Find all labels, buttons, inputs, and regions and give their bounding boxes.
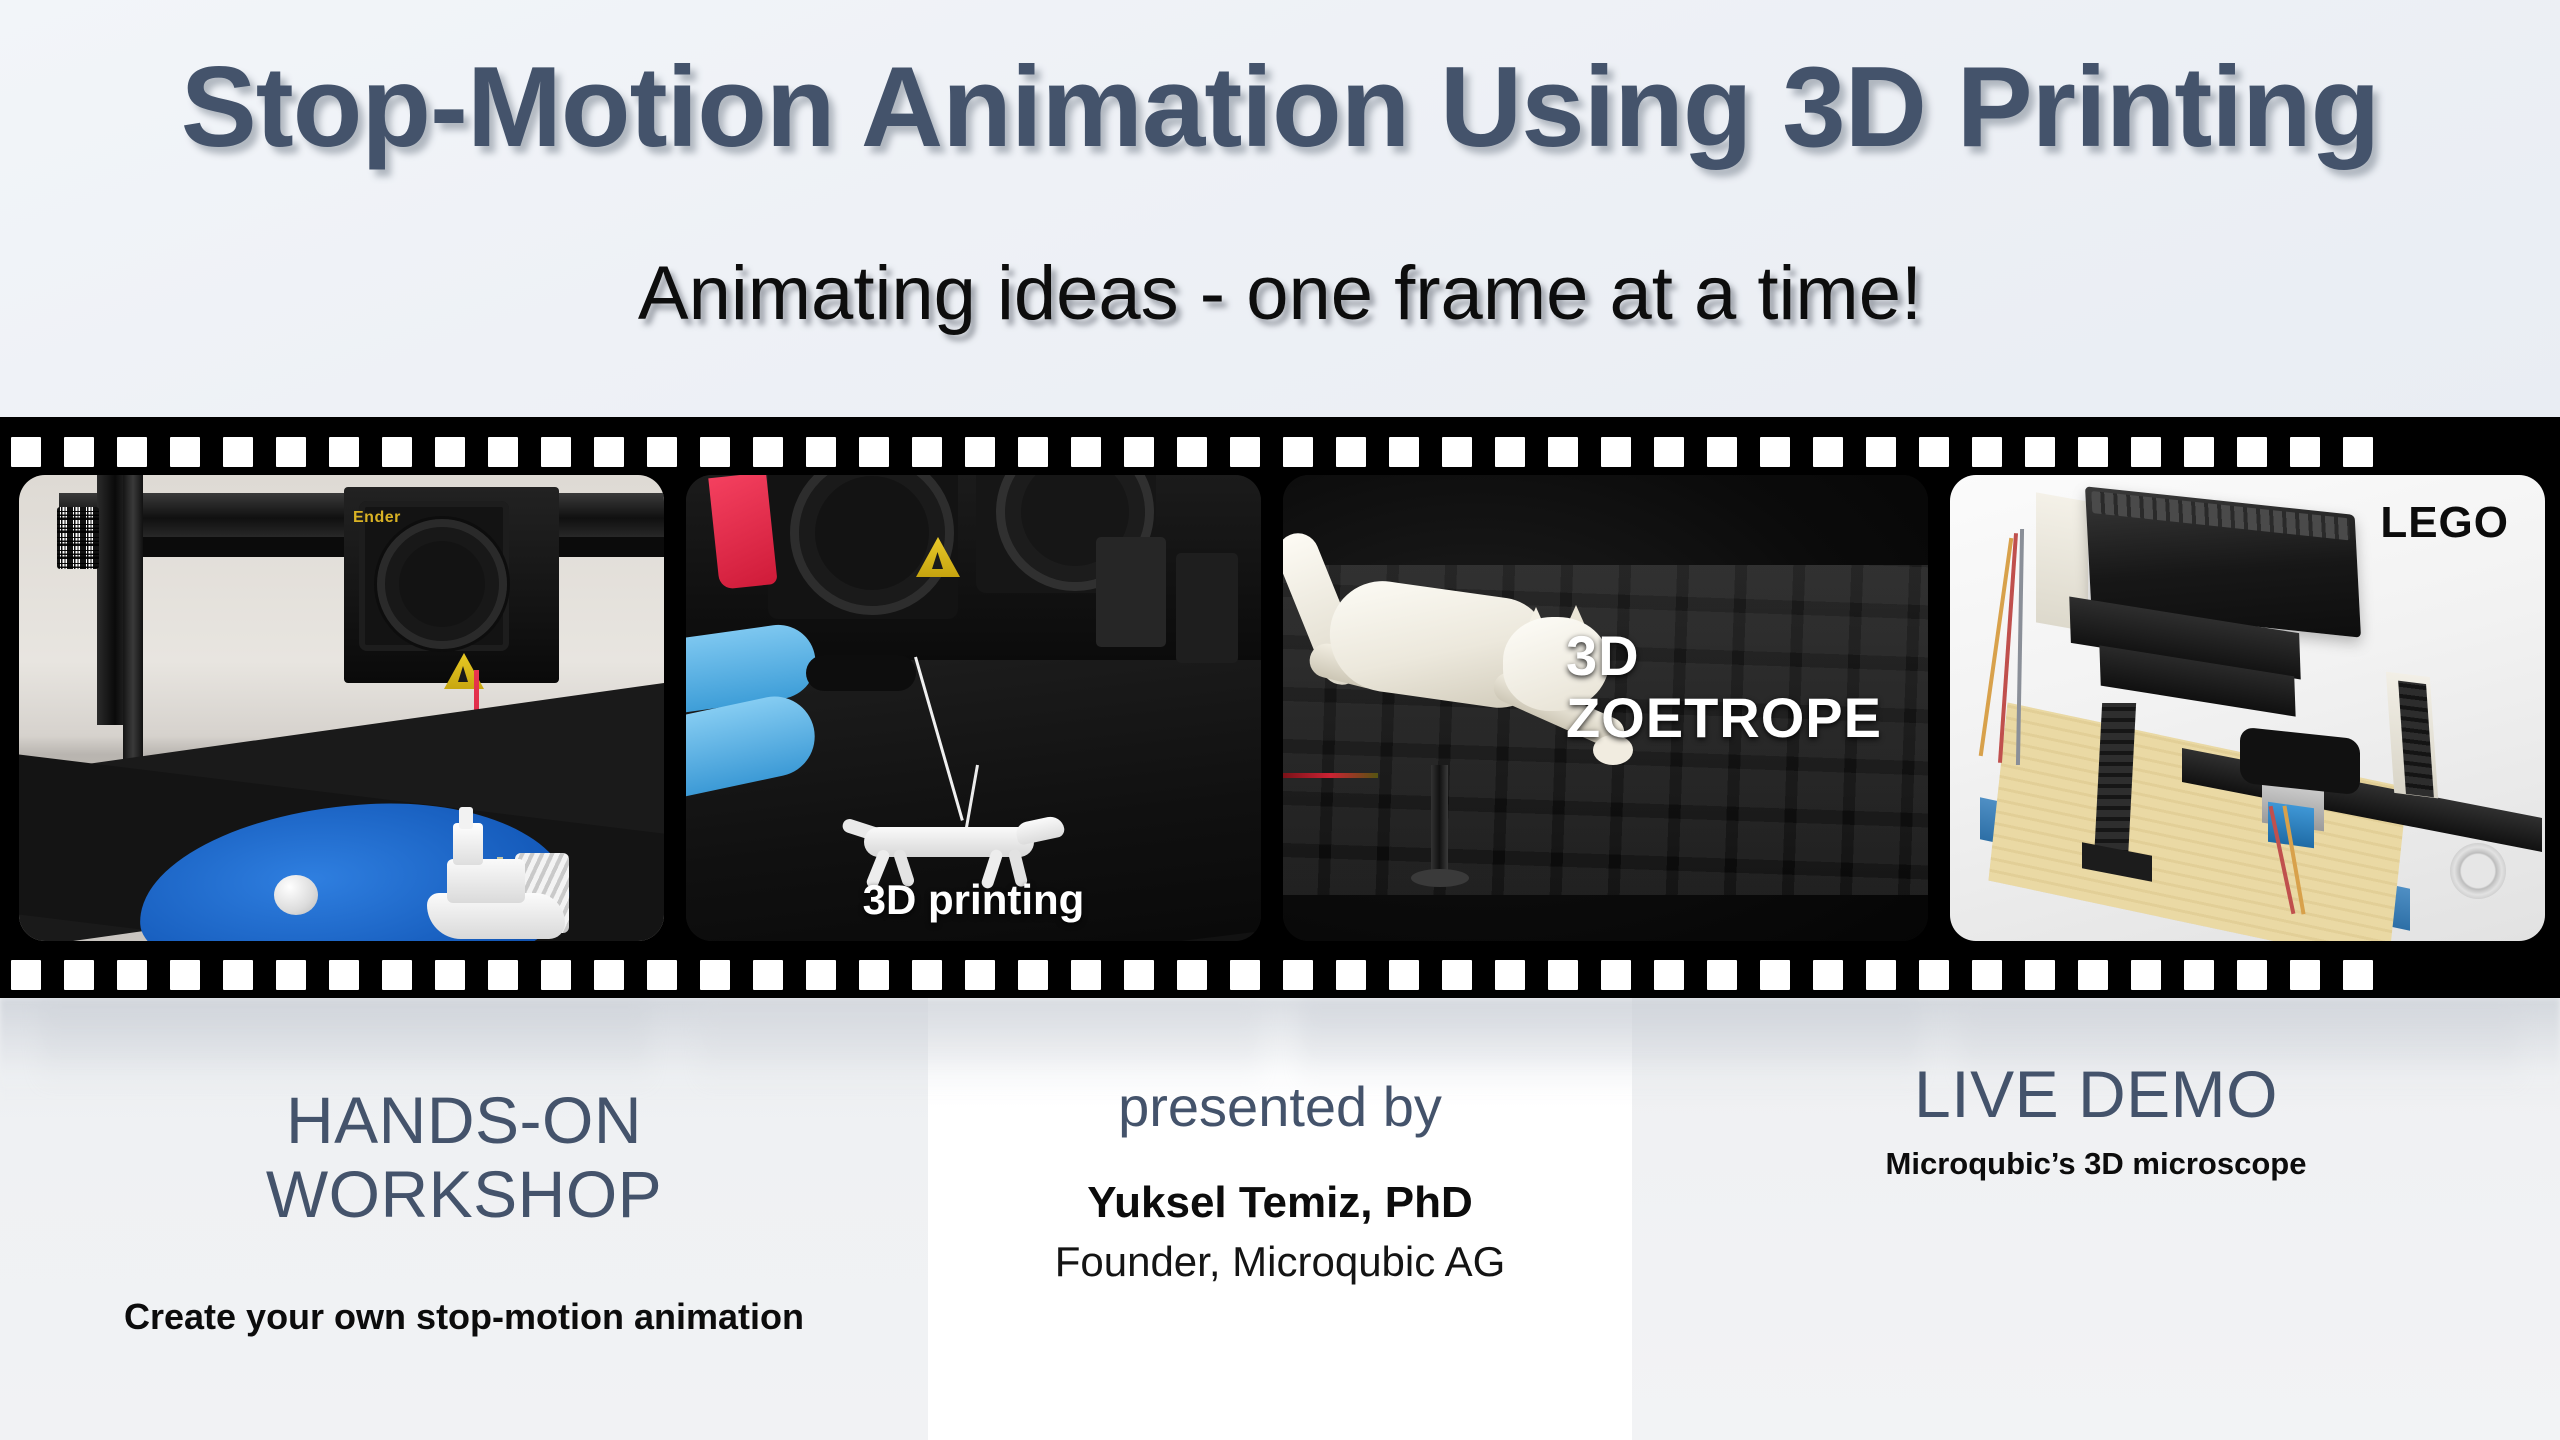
sprocket-hole — [594, 437, 624, 467]
sprocket-hole — [64, 960, 94, 990]
sprocket-hole — [11, 960, 41, 990]
sprocket-hole — [276, 960, 306, 990]
sprocket-hole — [806, 437, 836, 467]
sprocket-hole — [1601, 960, 1631, 990]
sprocket-hole — [2078, 437, 2108, 467]
sprocket-hole — [117, 437, 147, 467]
sprocket-hole — [2131, 437, 2161, 467]
sprocket-hole — [2184, 960, 2214, 990]
sprocket-hole — [1919, 960, 1949, 990]
sprocket-hole — [1813, 437, 1843, 467]
sprocket-hole — [1336, 437, 1366, 467]
sprocket-hole — [276, 437, 306, 467]
sprocket-hole — [435, 960, 465, 990]
sprocket-hole — [1389, 960, 1419, 990]
presenter-role: Founder, Microqubic AG — [928, 1238, 1632, 1286]
film-strip: Ender — [0, 417, 2560, 998]
sprocket-hole — [1071, 437, 1101, 467]
page-subtitle: Animating ideas - one frame at a time! — [0, 250, 2560, 337]
film-reflection-1 — [40, 998, 650, 1090]
film-frame-3[interactable]: 3D ZOETROPE — [1283, 475, 1928, 941]
sprocket-hole — [329, 437, 359, 467]
sprocket-hole — [647, 960, 677, 990]
sprocket-hole — [965, 437, 995, 467]
sprocket-hole — [912, 960, 942, 990]
sprocket-hole — [2078, 960, 2108, 990]
sprocket-hole — [753, 437, 783, 467]
sprocket-hole — [2025, 960, 2055, 990]
presenter-name: Yuksel Temiz, PhD — [928, 1178, 1632, 1228]
film-frame-2[interactable]: 3D printing — [686, 475, 1261, 941]
sprocket-hole — [541, 437, 571, 467]
sprocket-hole — [1972, 437, 2002, 467]
poster-header: Stop-Motion Animation Using 3D Printing … — [0, 0, 2560, 417]
film-frame-1[interactable]: Ender — [19, 475, 664, 941]
printing-photo — [686, 475, 1261, 941]
sprocket-hole — [11, 437, 41, 467]
sprocket-hole — [1336, 960, 1366, 990]
sprocket-hole — [1707, 437, 1737, 467]
sprocket-hole — [382, 960, 412, 990]
presented-by-label: presented by — [928, 1074, 1632, 1139]
sprocket-hole — [382, 437, 412, 467]
sprocket-hole — [329, 960, 359, 990]
live-demo-heading: LIVE DEMO — [1632, 1056, 2560, 1132]
sprocket-hole — [1760, 960, 1790, 990]
sprocket-hole — [1813, 960, 1843, 990]
sprocket-hole — [435, 437, 465, 467]
sprocket-hole — [1283, 437, 1313, 467]
sprocket-hole — [859, 437, 889, 467]
qr-code-sticker — [57, 507, 99, 569]
live-demo-subheading: Microqubic’s 3D microscope — [1632, 1146, 2560, 1182]
sprocket-hole — [753, 960, 783, 990]
sprocket-hole — [647, 437, 677, 467]
sprocket-hole — [223, 960, 253, 990]
sprocket-hole — [2290, 437, 2320, 467]
sprocket-hole — [1230, 960, 1260, 990]
frame-3-caption: 3D ZOETROPE — [1566, 625, 1882, 748]
sprocket-hole — [1760, 437, 1790, 467]
sprocket-hole — [1442, 437, 1472, 467]
sprocket-hole — [806, 960, 836, 990]
sprocket-hole — [1018, 437, 1048, 467]
sprocket-hole — [1283, 960, 1313, 990]
sprocket-hole — [2025, 437, 2055, 467]
sprocket-hole — [2184, 437, 2214, 467]
sprocket-hole — [1548, 437, 1578, 467]
sprocket-row-top — [0, 437, 2560, 467]
sprocket-hole — [859, 960, 889, 990]
sprocket-hole — [1124, 960, 1154, 990]
sprocket-hole — [1389, 437, 1419, 467]
film-frames: Ender — [0, 475, 2560, 941]
sprocket-hole — [700, 960, 730, 990]
sprocket-hole — [1866, 960, 1896, 990]
sprocket-hole — [700, 437, 730, 467]
sprocket-hole — [1230, 437, 1260, 467]
sprocket-hole — [1654, 437, 1684, 467]
sprocket-hole — [2131, 960, 2161, 990]
sprocket-hole — [1442, 960, 1472, 990]
fan-icon — [768, 475, 958, 619]
sprocket-hole — [2290, 960, 2320, 990]
sprocket-hole — [2343, 437, 2373, 467]
sprocket-hole — [541, 960, 571, 990]
sprocket-hole — [1495, 437, 1525, 467]
sprocket-hole — [1071, 960, 1101, 990]
sprocket-hole — [1601, 437, 1631, 467]
sprocket-hole — [1919, 437, 1949, 467]
sprocket-hole — [223, 437, 253, 467]
sprocket-hole — [1177, 960, 1207, 990]
sprocket-hole — [64, 437, 94, 467]
workshop-subheading: Create your own stop-motion animation — [0, 1296, 928, 1338]
workshop-heading: HANDS-ON WORKSHOP — [0, 1084, 928, 1232]
sprocket-hole — [488, 437, 518, 467]
sprocket-hole — [170, 437, 200, 467]
sprocket-hole — [488, 960, 518, 990]
sprocket-hole — [1866, 437, 1896, 467]
sprocket-row-bottom — [0, 960, 2560, 990]
sprocket-hole — [1548, 960, 1578, 990]
sprocket-hole — [1707, 960, 1737, 990]
film-frame-4[interactable]: LEGO — [1950, 475, 2545, 941]
sprocket-hole — [117, 960, 147, 990]
sprocket-hole — [2237, 437, 2267, 467]
sprocket-hole — [170, 960, 200, 990]
sprocket-hole — [1972, 960, 2002, 990]
frame-2-caption: 3D printing — [686, 877, 1261, 923]
sprocket-hole — [1654, 960, 1684, 990]
sprocket-hole — [912, 437, 942, 467]
poster-footer: HANDS-ON WORKSHOP Create your own stop-m… — [0, 998, 2560, 1440]
sprocket-hole — [2237, 960, 2267, 990]
sprocket-hole — [965, 960, 995, 990]
sprocket-hole — [594, 960, 624, 990]
sprocket-hole — [1495, 960, 1525, 990]
printer-photo: Ender — [19, 475, 664, 941]
page-title: Stop-Motion Animation Using 3D Printing — [0, 42, 2560, 173]
sprocket-hole — [2343, 960, 2373, 990]
sprocket-hole — [1177, 437, 1207, 467]
gear-icon — [2450, 843, 2506, 899]
sprocket-hole — [1018, 960, 1048, 990]
sprocket-hole — [1124, 437, 1154, 467]
frame-4-caption: LEGO — [2380, 499, 2509, 547]
